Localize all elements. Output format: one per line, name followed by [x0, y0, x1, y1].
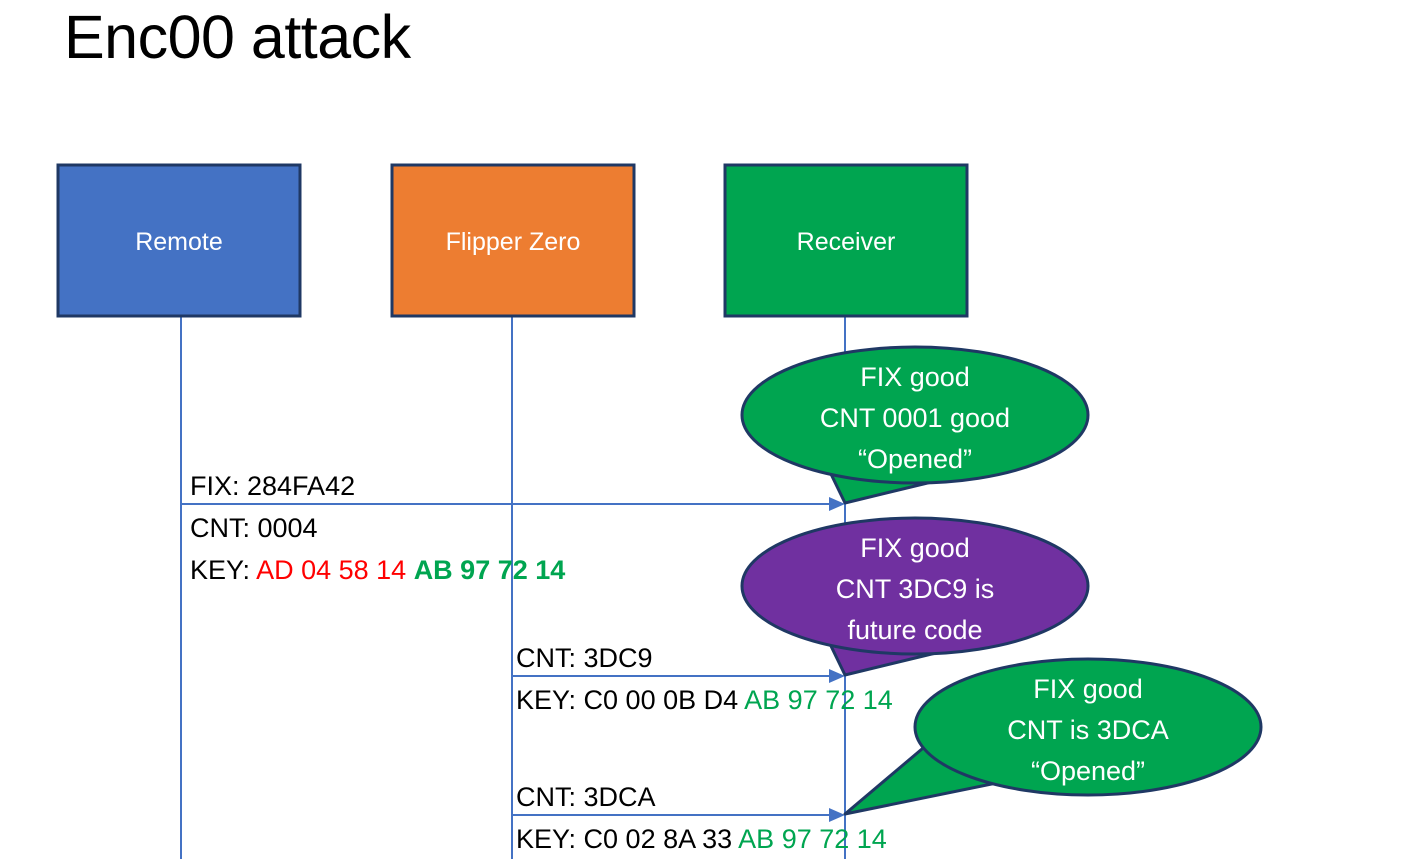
- msg-2-key-line: KEY: C0 00 0B D4 AB 97 72 14: [516, 685, 893, 715]
- msg-1-cnt-line: CNT: 0004: [190, 513, 318, 543]
- slide-canvas: Enc00 attack Remote Flipper Zero: [0, 0, 1408, 859]
- msg-1-key-line: KEY: AD 04 58 14 AB 97 72 14: [190, 555, 565, 585]
- msg-3-key-line: KEY: C0 02 8A 33 AB 97 72 14: [516, 824, 887, 854]
- actor-label-remote: Remote: [135, 228, 223, 256]
- arrow-head-msg-3: [829, 808, 845, 822]
- msg-1-key-prefix: KEY:: [190, 555, 256, 585]
- callout-3-line-1: FIX good: [1033, 674, 1143, 704]
- actor-label-receiver: Receiver: [797, 228, 896, 256]
- actor-label-flipper: Flipper Zero: [446, 228, 581, 256]
- callout-3-line-3: “Opened”: [1031, 756, 1145, 786]
- callout-2-line-2: CNT 3DC9 is: [836, 574, 995, 604]
- callout-2-line-3: future code: [847, 615, 982, 645]
- callout-bubble-2[interactable]: FIX good CNT 3DC9 is future code: [742, 518, 1088, 675]
- callout-2-line-1: FIX good: [860, 533, 970, 563]
- msg-2-cnt-line: CNT: 3DC9: [516, 643, 653, 673]
- callout-bubble-3[interactable]: FIX good CNT is 3DCA “Opened”: [845, 659, 1261, 814]
- msg-1-key-green: AB 97 72 14: [414, 555, 566, 585]
- actor-box-receiver[interactable]: Receiver: [725, 165, 967, 316]
- actor-box-remote[interactable]: Remote: [58, 165, 300, 316]
- actor-box-flipper[interactable]: Flipper Zero: [392, 165, 634, 316]
- msg-3-cnt-line: CNT: 3DCA: [516, 782, 656, 812]
- sequence-diagram: Remote Flipper Zero Receiver FIX: 284FA4…: [0, 0, 1408, 859]
- message-label-msg-1: FIX: 284FA42 CNT: 0004 KEY: AD 04 58 14 …: [190, 471, 565, 585]
- msg-1-key-red: AD 04 58 14: [256, 555, 414, 585]
- callout-3-line-2: CNT is 3DCA: [1007, 715, 1169, 745]
- callout-1-line-3: “Opened”: [858, 444, 972, 474]
- msg-3-key-prefix: KEY: C0 02 8A 33: [516, 824, 738, 854]
- callout-bubble-1[interactable]: FIX good CNT 0001 good “Opened”: [742, 347, 1088, 503]
- callout-1-line-2: CNT 0001 good: [820, 403, 1010, 433]
- msg-3-key-green: AB 97 72 14: [738, 824, 887, 854]
- msg-2-key-prefix: KEY: C0 00 0B D4: [516, 685, 744, 715]
- msg-1-fix-line: FIX: 284FA42: [190, 471, 355, 501]
- msg-2-key-green: AB 97 72 14: [744, 685, 893, 715]
- callout-1-line-1: FIX good: [860, 362, 970, 392]
